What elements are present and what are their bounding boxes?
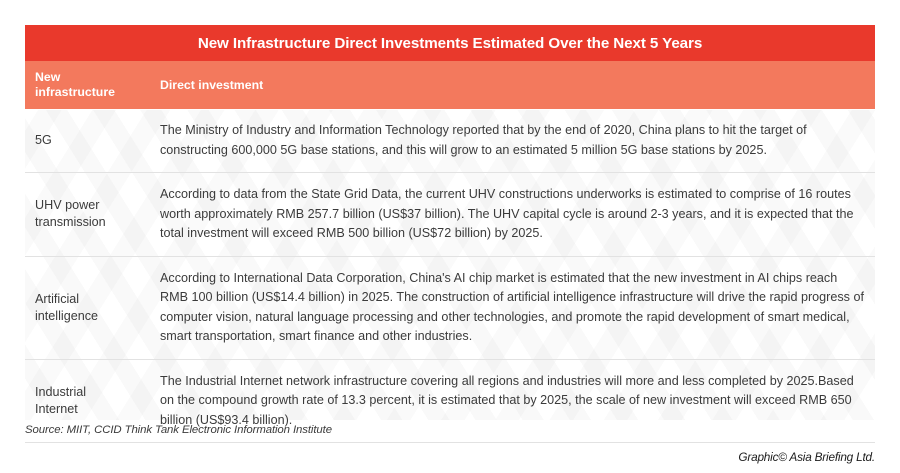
row-investment-5g: The Ministry of Industry and Information… <box>160 109 875 172</box>
row-label-line2: transmission <box>35 214 106 231</box>
row-label-artificial-intelligence: Artificial intelligence <box>25 257 160 359</box>
table-header-row: New infrastructure Direct investment <box>25 61 875 109</box>
row-label-5g: 5G <box>25 109 160 172</box>
column-header-line1: New <box>35 70 160 85</box>
source-note: Source: MIIT, CCID Think Tank Electronic… <box>25 424 875 436</box>
row-label-line2: Internet <box>35 401 86 418</box>
column-header-new-infrastructure: New infrastructure <box>25 70 160 100</box>
graphic-credit: Graphic© Asia Briefing Ltd. <box>25 450 875 464</box>
row-investment-uhv-power-transmission: According to data from the State Grid Da… <box>160 173 875 256</box>
row-investment-artificial-intelligence: According to International Data Corporat… <box>160 257 875 359</box>
page-title: New Infrastructure Direct Investments Es… <box>198 35 702 52</box>
column-header-line2: infrastructure <box>35 85 160 100</box>
row-label-line1: Artificial <box>35 291 98 308</box>
row-label-uhv-power-transmission: UHV power transmission <box>25 173 160 256</box>
table-row: 5G The Ministry of Industry and Informat… <box>25 109 875 173</box>
row-label-line1: UHV power <box>35 197 106 214</box>
table-row: Artificial intelligence According to Int… <box>25 257 875 360</box>
row-label-line2: intelligence <box>35 308 98 325</box>
infrastructure-investment-table: New Infrastructure Direct Investments Es… <box>25 25 875 443</box>
column-header-direct-investment: Direct investment <box>160 78 875 93</box>
table-body: 5G The Ministry of Industry and Informat… <box>25 109 875 443</box>
graphic-footer: Source: MIIT, CCID Think Tank Electronic… <box>25 424 875 464</box>
row-label-line1: 5G <box>35 132 52 149</box>
table-title-band: New Infrastructure Direct Investments Es… <box>25 25 875 61</box>
graphic-page: New Infrastructure Direct Investments Es… <box>0 0 900 473</box>
table-row: UHV power transmission According to data… <box>25 173 875 257</box>
row-label-line1: Industrial <box>35 384 86 401</box>
